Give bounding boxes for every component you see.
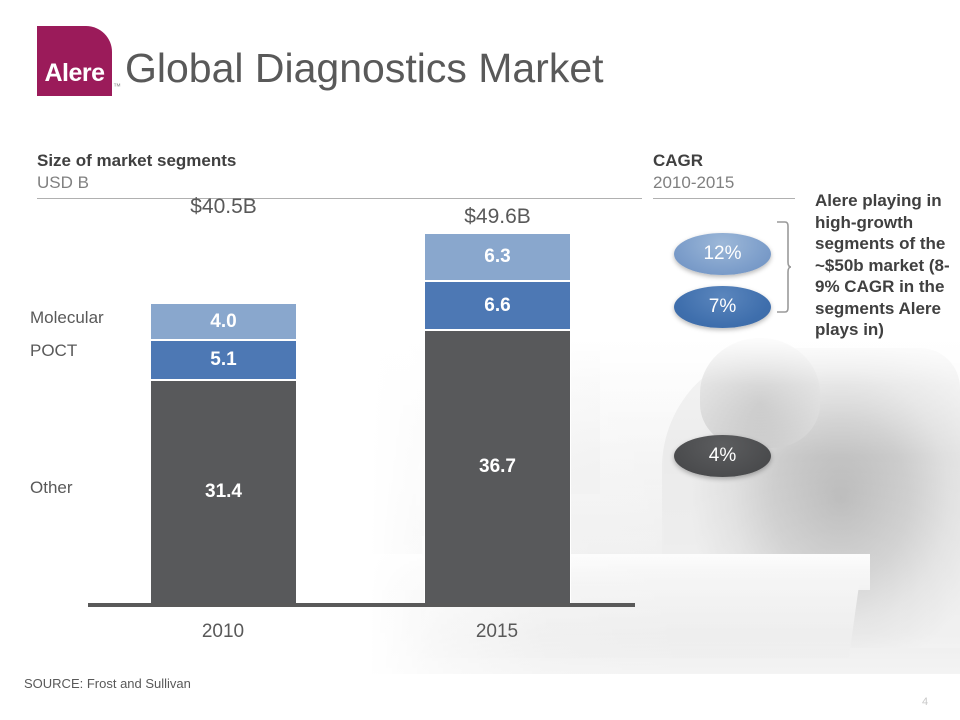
section-subtitle: USD B: [37, 172, 642, 194]
category-label-poct: POCT: [30, 341, 77, 361]
section-divider: [37, 198, 642, 199]
bar-2015[interactable]: $49.6B 6.3 6.6 36.7: [424, 233, 571, 604]
callout-text: Alere playing in high-growth segments of…: [815, 190, 955, 341]
cagr-bubble-molecular[interactable]: 12%: [674, 233, 771, 275]
x-axis-line: [88, 603, 635, 607]
section-title: CAGR: [653, 150, 795, 172]
bar-total-label: $49.6B: [424, 205, 571, 229]
x-tick-label-2015: 2015: [427, 621, 567, 643]
bar-segment-poct[interactable]: 6.6: [424, 281, 571, 330]
category-label-molecular: Molecular: [30, 308, 104, 328]
bar-segment-molecular[interactable]: 6.3: [424, 233, 571, 281]
page-title: Global Diagnostics Market: [125, 45, 604, 92]
section-subtitle: 2010-2015: [653, 172, 795, 194]
slide-canvas: Alere ™ Global Diagnostics Market Size o…: [0, 0, 960, 720]
page-number: 4: [922, 696, 928, 708]
bar-segment-other[interactable]: 36.7: [424, 330, 571, 604]
trademark-icon: ™: [113, 82, 121, 91]
section-divider: [653, 198, 795, 199]
x-tick-label-2010: 2010: [153, 621, 293, 643]
cagr-bubble-poct[interactable]: 7%: [674, 286, 771, 328]
section-header-market-size: Size of market segments USD B: [37, 150, 642, 199]
bar-segment-poct[interactable]: 5.1: [150, 340, 297, 380]
bar-2010[interactable]: $40.5B 4.0 5.1 31.4: [150, 233, 297, 604]
source-note: SOURCE: Frost and Sullivan: [24, 676, 191, 691]
curly-brace-icon: [776, 221, 792, 313]
logo-wordmark: Alere: [37, 59, 112, 88]
section-title: Size of market segments: [37, 150, 642, 172]
bar-segment-other[interactable]: 31.4: [150, 380, 297, 604]
alere-logo: Alere: [37, 26, 112, 96]
bar-total-label: $40.5B: [150, 195, 297, 219]
bar-segment-molecular[interactable]: 4.0: [150, 303, 297, 340]
cagr-bubble-other[interactable]: 4%: [674, 435, 771, 477]
section-header-cagr: CAGR 2010-2015: [653, 150, 795, 199]
category-label-other: Other: [30, 478, 73, 498]
